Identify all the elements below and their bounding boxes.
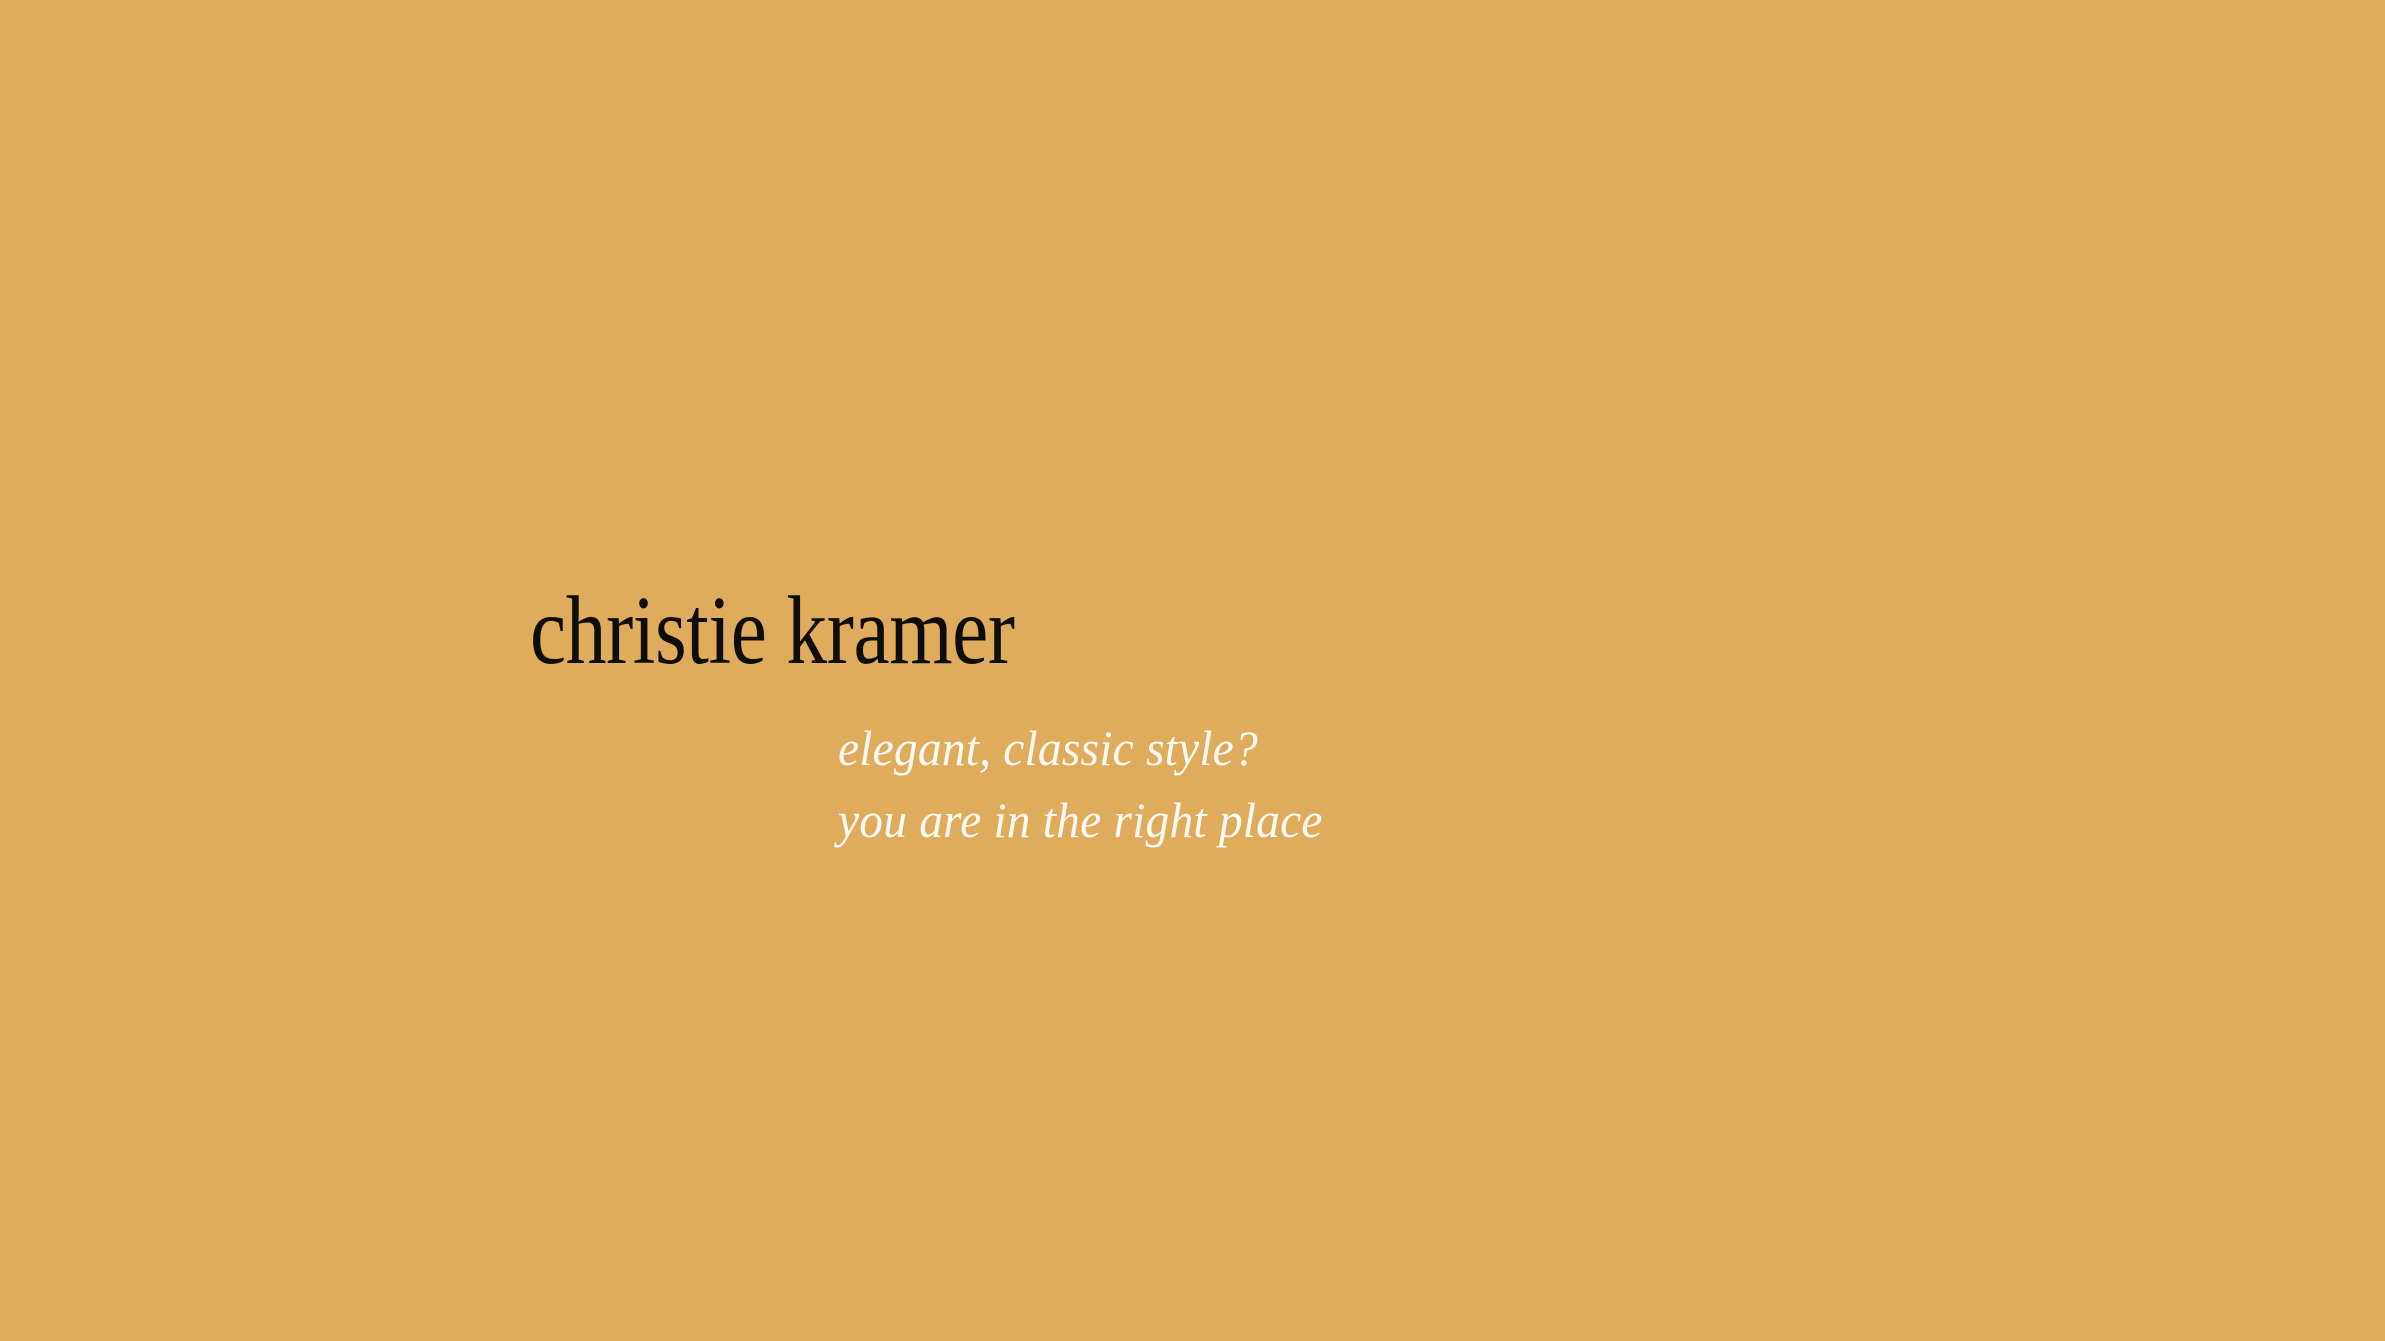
hero-section: christie kramer elegant, classic style? … bbox=[0, 0, 2385, 1341]
tagline-block: elegant, classic style? you are in the r… bbox=[838, 712, 1348, 856]
page-canvas: christie kramer elegant, classic style? … bbox=[0, 0, 2385, 1341]
page-title: christie kramer bbox=[530, 582, 1015, 679]
tagline-line-2: you are in the right place bbox=[838, 784, 1323, 856]
tagline-line-1: elegant, classic style? bbox=[838, 712, 1323, 784]
